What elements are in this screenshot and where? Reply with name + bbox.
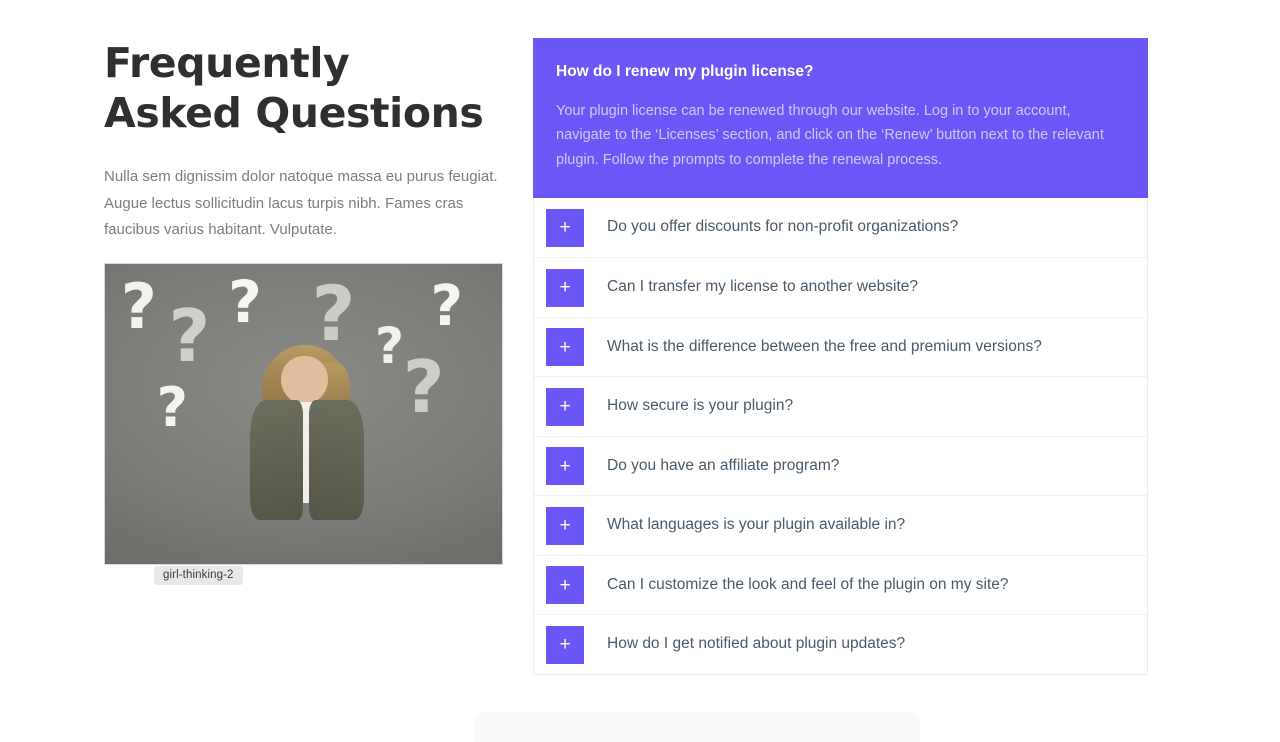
accordion-item[interactable]: +How secure is your plugin? [534, 376, 1147, 436]
accordion-item-expanded[interactable]: How do I renew my plugin license? Your p… [533, 38, 1148, 198]
plus-icon[interactable]: + [546, 269, 584, 307]
faq-page: Frequently Asked Questions Nulla sem dig… [0, 0, 1280, 725]
accordion-item-question: Do you have an affiliate program? [607, 456, 839, 476]
figure-jeans [275, 511, 337, 565]
woman-figure [240, 345, 371, 564]
accordion-item-question: Can I customize the look and feel of the… [607, 575, 1009, 595]
question-mark-icon: ? [375, 321, 404, 371]
accordion-expanded-question: How do I renew my plugin license? [556, 62, 1125, 82]
faq-image-block: ???????? girl-thinking-2 [104, 263, 503, 565]
question-mark-icon: ? [311, 276, 355, 352]
figure-jacket-right [309, 400, 364, 520]
figure-jacket-left [250, 400, 302, 520]
girl-thinking-image: ???????? [104, 263, 503, 565]
plus-icon[interactable]: + [546, 388, 584, 426]
plus-icon[interactable]: + [546, 507, 584, 545]
accordion-item[interactable]: +Do you offer discounts for non-profit o… [534, 198, 1147, 258]
plus-icon[interactable]: + [546, 209, 584, 247]
question-mark-icon: ? [169, 300, 211, 372]
accordion-item-question: Do you offer discounts for non-profit or… [607, 217, 958, 237]
faq-accordion: How do I renew my plugin license? Your p… [533, 38, 1148, 675]
accordion-item[interactable]: +Do you have an affiliate program? [534, 436, 1147, 496]
accordion-item[interactable]: +How do I get notified about plugin upda… [534, 614, 1147, 674]
accordion-item[interactable]: +Can I transfer my license to another we… [534, 257, 1147, 317]
accordion-expanded-answer: Your plugin license can be renewed throu… [556, 99, 1125, 172]
accordion-item-question: What is the difference between the free … [607, 337, 1042, 357]
intro-paragraph: Nulla sem dignissim dolor natoque massa … [104, 164, 500, 244]
accordion-item[interactable]: +What is the difference between the free… [534, 317, 1147, 377]
accordion-item-question: Can I transfer my license to another web… [607, 277, 918, 297]
plus-icon[interactable]: + [546, 626, 584, 664]
figure-face [281, 356, 328, 404]
accordion-item[interactable]: +What languages is your plugin available… [534, 495, 1147, 555]
plus-icon[interactable]: + [546, 328, 584, 366]
next-section-peek [475, 712, 920, 742]
page-title: Frequently Asked Questions [104, 38, 484, 138]
question-mark-icon: ? [228, 273, 262, 331]
plus-icon[interactable]: + [546, 566, 584, 604]
accordion-collapsed-list: +Do you offer discounts for non-profit o… [533, 198, 1148, 675]
accordion-item-question: What languages is your plugin available … [607, 515, 905, 535]
question-mark-icon: ? [431, 279, 463, 335]
accordion-item-question: How secure is your plugin? [607, 396, 793, 416]
question-mark-icon: ? [403, 351, 445, 423]
plus-icon[interactable]: + [546, 447, 584, 485]
accordion-item[interactable]: +Can I customize the look and feel of th… [534, 555, 1147, 615]
accordion-item-question: How do I get notified about plugin updat… [607, 634, 905, 654]
image-caption-badge: girl-thinking-2 [154, 566, 243, 585]
question-mark-icon: ? [157, 381, 188, 435]
question-mark-icon: ? [121, 276, 157, 338]
faq-intro-column: Frequently Asked Questions Nulla sem dig… [104, 38, 504, 244]
